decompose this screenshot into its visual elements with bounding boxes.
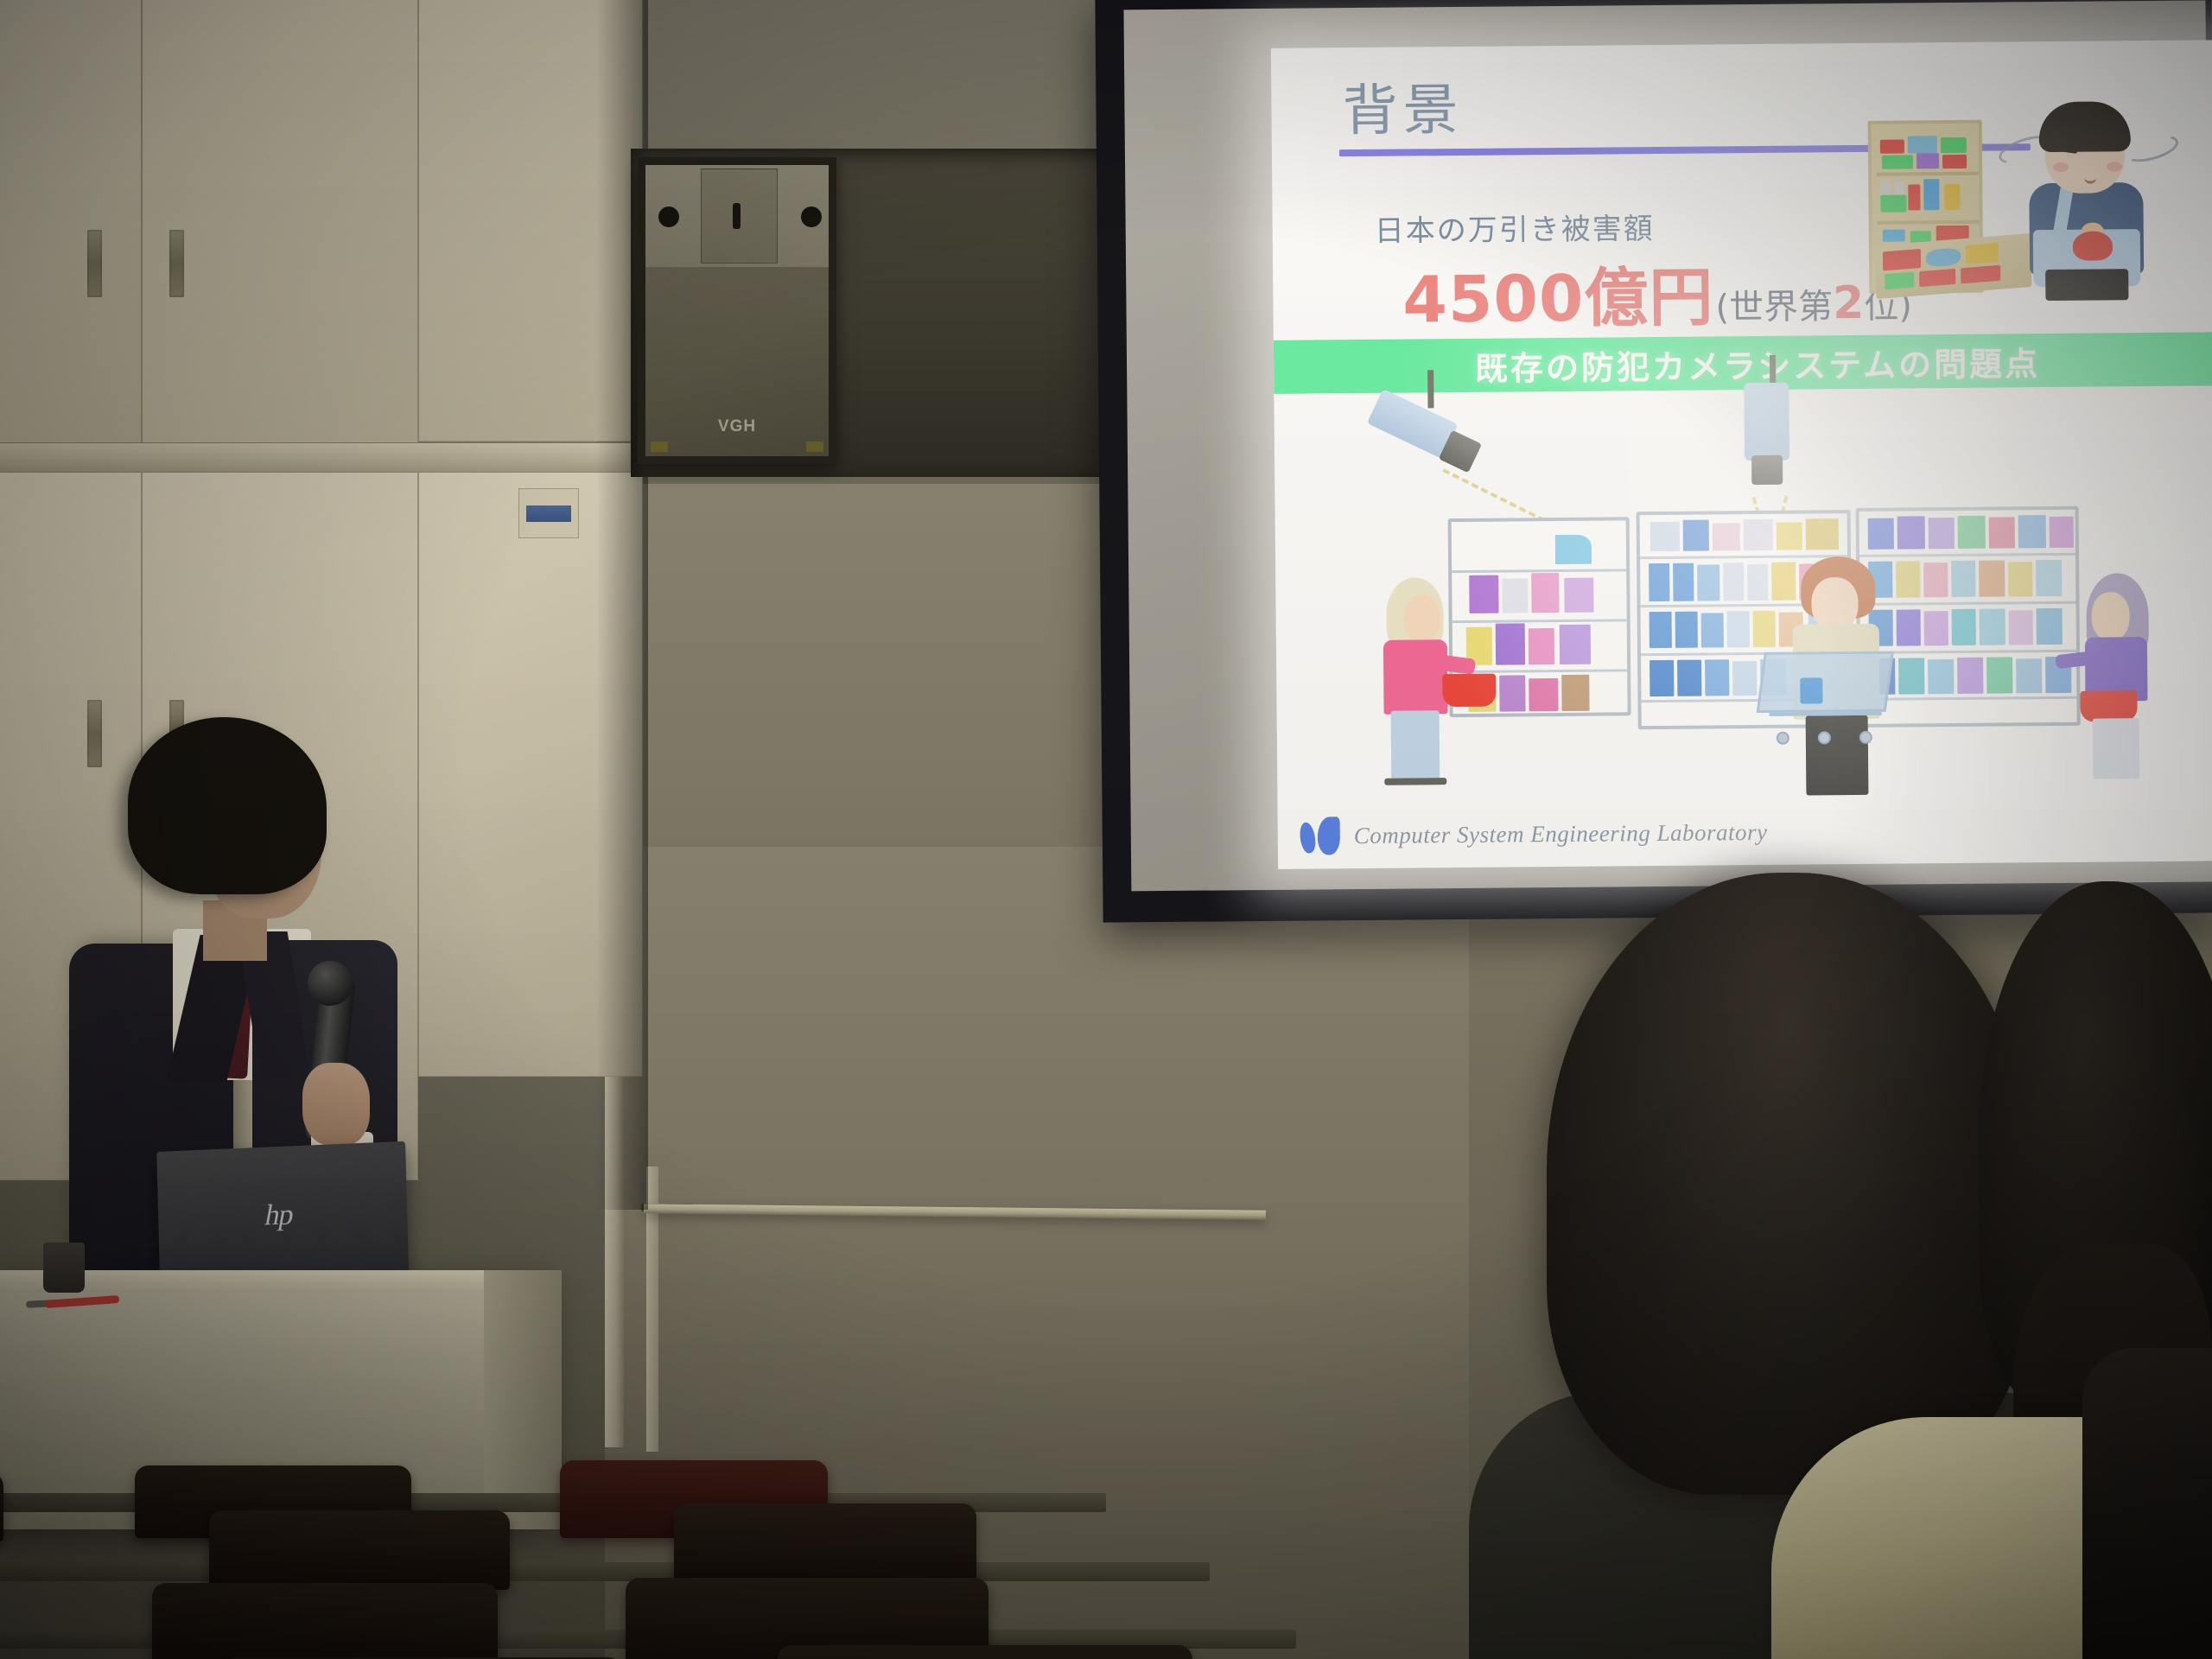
- lecture-hall-photo: VGH 背景 日本の万引き被害額 4500億円 (世界第2位): [0, 0, 2212, 1659]
- shopper-shadow: [1384, 778, 1446, 785]
- camera-lens: [1751, 455, 1783, 485]
- slide-stat-label: 日本の万引き被害額: [1374, 205, 1654, 250]
- speaker-bracket: [806, 442, 823, 452]
- shopping-basket: [1442, 674, 1496, 708]
- audience-head-center: [1547, 873, 2031, 1495]
- speaker-slot: [733, 203, 741, 229]
- speaker-bracket: [651, 442, 668, 452]
- desk-rail: [0, 1562, 1210, 1581]
- rank-prefix: (世界第: [1715, 278, 1833, 329]
- lab-name-text: Computer System Engineering Laboratory: [1354, 818, 1768, 849]
- slide-stat-row: 4500億円 (世界第2位): [1402, 244, 1912, 346]
- camera-body: [1744, 383, 1789, 461]
- store-camera-diagram: [1274, 389, 2212, 804]
- cabinet-handle[interactable]: [169, 230, 184, 297]
- lecture-hall-seats: [0, 1460, 1417, 1659]
- shopper-torso: [1383, 639, 1448, 715]
- desk-accessories: [35, 1243, 138, 1294]
- seat-back[interactable]: [0, 1472, 3, 1541]
- shopper-face: [2091, 592, 2129, 640]
- speaker-faceplate: [645, 165, 829, 267]
- slide-title: 背景: [1342, 66, 1464, 146]
- shopper-face: [1403, 594, 1440, 643]
- projection-screen-surface: 背景 日本の万引き被害額 4500億円 (世界第2位): [1123, 0, 2212, 891]
- cart-basket: [1757, 652, 1894, 713]
- cup[interactable]: [43, 1243, 85, 1293]
- slide-banner-text: 既存の防犯カメラシステムの問題点: [1475, 337, 2041, 390]
- seat-back[interactable]: [778, 1645, 1192, 1659]
- seat-back[interactable]: [674, 1503, 976, 1586]
- shoplifter-hair: [2038, 101, 2131, 152]
- speaker-driver-hole: [658, 207, 679, 227]
- shoplifter-legs: [2045, 269, 2128, 301]
- slide-footer: Computer System Engineering Laboratory: [1300, 813, 1768, 855]
- camera-mount-pole: [1427, 370, 1433, 408]
- shopping-cart: [1760, 652, 1891, 747]
- projected-slide: 背景 日本の万引き被害額 4500億円 (世界第2位): [1271, 40, 2212, 869]
- cabinet-label-text: [526, 505, 571, 522]
- rank-number: 2: [1833, 277, 1865, 329]
- speaker-driver-hole: [801, 207, 822, 227]
- shopper-legs: [1391, 710, 1440, 781]
- cabinet-label-sticker: [518, 488, 579, 538]
- laptop[interactable]: hp: [156, 1141, 409, 1287]
- slide-problem-banner: 既存の防犯カメラシステムの問題点: [1274, 332, 2212, 394]
- store-display-table: [1876, 233, 2031, 299]
- lab-logo-icon: [1300, 817, 1342, 855]
- wall-speaker-unit: VGH: [638, 157, 836, 464]
- dizzy-swirl-icon: [2122, 130, 2182, 167]
- seat-back[interactable]: [209, 1510, 510, 1590]
- cabinet-door-upper-middle[interactable]: [142, 0, 418, 446]
- shopper-pink: [1370, 577, 1476, 785]
- presenter-hand: [302, 1063, 370, 1146]
- cart-item: [1800, 677, 1822, 703]
- laptop-brand-logo: hp: [263, 1198, 296, 1232]
- cabinet-handle[interactable]: [87, 230, 102, 297]
- shoplifting-illustration: [1867, 99, 2180, 301]
- camera-mount-pole: [1770, 355, 1776, 386]
- audience-head-far-right: [2082, 1348, 2212, 1659]
- shopper-purple: [2077, 573, 2183, 781]
- cabinet-divider: [0, 442, 643, 475]
- cabinet-door-upper-left[interactable]: [0, 0, 142, 446]
- speaker-brand-logo: VGH: [718, 417, 756, 436]
- slide-stat-number: 4500億円: [1402, 245, 1714, 346]
- shopper-legs: [2093, 718, 2140, 779]
- seat-back[interactable]: [152, 1583, 498, 1659]
- stolen-item: [2073, 231, 2113, 260]
- projection-screen-frame: 背景 日本の万引き被害額 4500億円 (世界第2位): [1095, 0, 2212, 923]
